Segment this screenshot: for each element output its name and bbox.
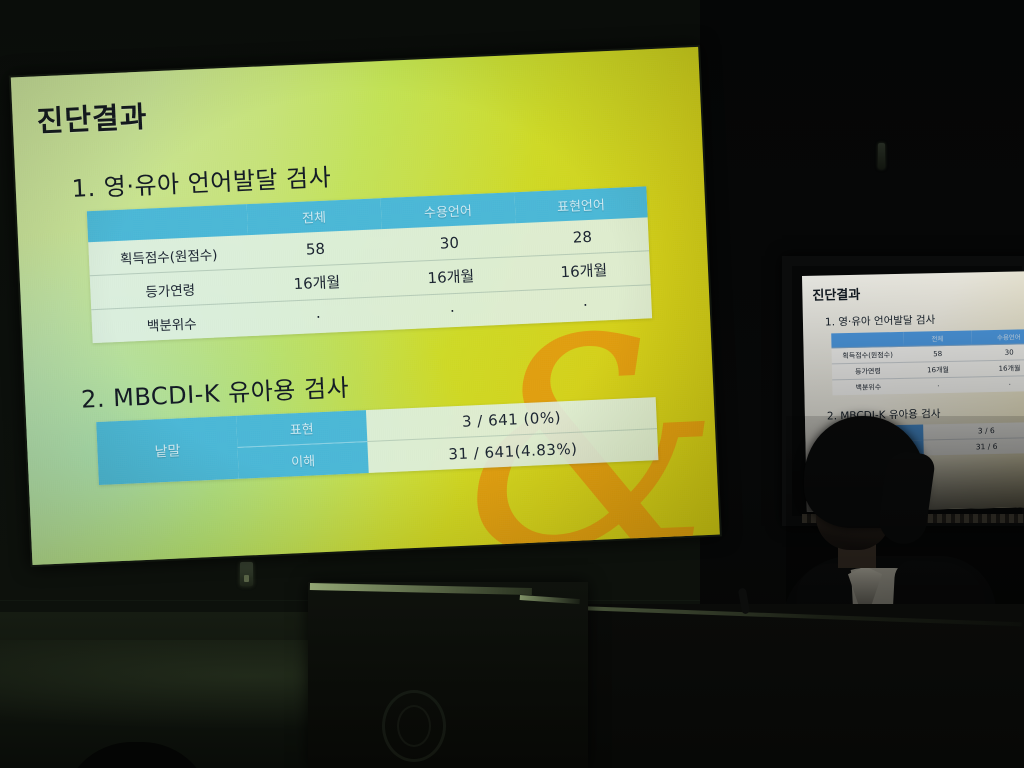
monitor-cell-age-receptive: 16개월 (972, 359, 1024, 377)
podium-emblem-icon (382, 690, 446, 762)
front-desk (520, 604, 1024, 768)
row-label-percentile: 백분위수 (91, 303, 252, 344)
monitor-column-header-total: 전체 (903, 330, 971, 346)
monitor-row-label-percentile: 백분위수 (832, 378, 904, 395)
monitor-cell-pct-total: · (904, 377, 972, 394)
cell-percentile-receptive: · (385, 291, 520, 330)
monitor-cell-age-total: 16개월 (904, 361, 972, 378)
projection-screen: & 진단결과 1. 영·유아 언어발달 검사 전체 수용언어 표현언어 (0, 28, 732, 579)
monitor-section-1-heading: 1. 영·유아 언어발달 검사 (825, 310, 1024, 329)
monitor-cell-raw-total: 58 (903, 345, 971, 362)
slide-content: 진단결과 1. 영·유아 언어발달 검사 전체 수용언어 표현언어 획득점수 (11, 47, 720, 565)
monitor-slide-title: 진단결과 (812, 280, 1024, 304)
slide-title: 진단결과 (36, 70, 675, 140)
monitor-cell-raw-receptive: 30 (972, 343, 1024, 361)
row-label-comprehension: 이해 (237, 442, 368, 479)
table-row: 백분위수 · · (832, 375, 1024, 395)
monitor-language-table: 전체 수용언어 획득점수(원점수) 58 30 등가연령 16개월 (831, 329, 1024, 395)
monitor-row-label-raw-score: 획득점수(원점수) (832, 346, 904, 364)
mbcdi-k-table: 낱말 표현 3 / 641 (0%) 이해 31 / 641(4.83%) (96, 397, 658, 485)
projected-slide: & 진단결과 1. 영·유아 언어발달 검사 전체 수용언어 표현언어 (11, 47, 720, 565)
monitor-column-header-receptive: 수용언어 (971, 329, 1024, 345)
podium (308, 582, 588, 768)
monitor-cell-pct-receptive: · (972, 375, 1024, 392)
cell-percentile-total: · (251, 297, 386, 336)
row-group-label-word: 낱말 (96, 416, 239, 485)
cell-percentile-expressive: · (519, 285, 653, 324)
language-development-table: 전체 수용언어 표현언어 획득점수(원점수) 58 30 28 (87, 186, 652, 343)
wall-fixture-icon (878, 143, 885, 169)
scene-root: & 진단결과 1. 영·유아 언어발달 검사 전체 수용언어 표현언어 (0, 0, 1024, 768)
monitor-row-label-age: 등가연령 (832, 362, 904, 380)
monitor-column-header-blank (831, 332, 903, 348)
